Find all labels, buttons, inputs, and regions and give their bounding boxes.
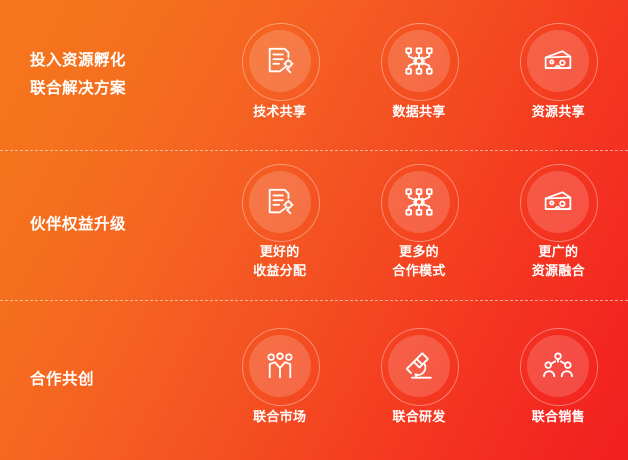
caption-data-sharing: 数据共享 [392, 102, 445, 121]
row-1-cells: 技术共享 [210, 0, 628, 150]
benefit-cell-joint-sales[interactable]: 联合销售 [489, 335, 628, 426]
caption-line: 更广的 [532, 242, 585, 261]
row-1-label-line-1: 投入资源孵化 [30, 47, 210, 75]
badge-cheese-wedge [527, 30, 589, 92]
caption-resource-sharing: 资源共享 [532, 102, 585, 121]
badge-document-share [249, 30, 311, 92]
badge-data-network [388, 171, 450, 233]
caption-line: 收益分配 [253, 261, 306, 280]
microscope-icon [404, 351, 434, 381]
badge-three-people [249, 335, 311, 397]
caption-more-cooperation-modes: 更多的 合作模式 [392, 242, 445, 280]
data-network-gear-icon [404, 46, 434, 76]
benefit-cell-joint-marketing[interactable]: 联合市场 [210, 335, 349, 426]
three-people-icon [265, 352, 295, 380]
benefit-cell-joint-rnd[interactable]: 联合研发 [349, 335, 488, 426]
cheese-wedge-icon [543, 48, 573, 74]
benefit-row-1: 投入资源孵化 联合解决方案 [0, 0, 628, 150]
caption-line: 资源共享 [532, 102, 585, 121]
row-2-cells: 更好的 收益分配 [210, 150, 628, 300]
caption-joint-marketing: 联合市场 [253, 407, 306, 426]
benefit-cell-data-sharing[interactable]: 数据共享 [349, 30, 488, 121]
caption-line: 合作模式 [392, 261, 445, 280]
benefit-row-3: 合作共创 联合市场 [0, 300, 628, 460]
badge-document-share [249, 171, 311, 233]
caption-better-revenue-share: 更好的 收益分配 [253, 242, 306, 280]
caption-line: 联合研发 [392, 407, 445, 426]
row-1-label-line-2: 联合解决方案 [30, 75, 210, 103]
caption-joint-sales: 联合销售 [532, 407, 585, 426]
row-3-label: 合作共创 [0, 366, 210, 394]
partner-benefits-panel: 投入资源孵化 联合解决方案 [0, 0, 628, 460]
caption-line: 联合销售 [532, 407, 585, 426]
caption-tech-sharing: 技术共享 [253, 102, 306, 121]
caption-line: 技术共享 [253, 102, 306, 121]
badge-cheese-wedge [527, 171, 589, 233]
badge-people-group [527, 335, 589, 397]
row-3-label-line-1: 合作共创 [30, 366, 210, 394]
benefit-cell-tech-sharing[interactable]: 技术共享 [210, 30, 349, 121]
people-group-icon [543, 352, 573, 380]
benefit-cell-broader-resource-integration[interactable]: 更广的 资源融合 [489, 171, 628, 280]
row-1-label: 投入资源孵化 联合解决方案 [0, 47, 210, 103]
caption-line: 联合市场 [253, 407, 306, 426]
row-2-label-line-1: 伙伴权益升级 [30, 211, 210, 239]
benefit-cell-better-revenue-share[interactable]: 更好的 收益分配 [210, 171, 349, 280]
caption-joint-rnd: 联合研发 [392, 407, 445, 426]
data-network-gear-icon [404, 187, 434, 217]
caption-line: 资源融合 [532, 261, 585, 280]
caption-line: 更好的 [253, 242, 306, 261]
row-3-cells: 联合市场 [210, 300, 628, 460]
caption-line: 更多的 [392, 242, 445, 261]
row-2-label: 伙伴权益升级 [0, 211, 210, 239]
caption-broader-resource-integration: 更广的 资源融合 [532, 242, 585, 280]
caption-line: 数据共享 [392, 102, 445, 121]
cheese-wedge-icon [543, 189, 573, 215]
benefit-cell-more-cooperation-modes[interactable]: 更多的 合作模式 [349, 171, 488, 280]
document-share-icon [265, 187, 295, 217]
benefit-row-2: 伙伴权益升级 [0, 150, 628, 300]
badge-data-network [388, 30, 450, 92]
benefit-cell-resource-sharing[interactable]: 资源共享 [489, 30, 628, 121]
badge-microscope [388, 335, 450, 397]
document-share-icon [265, 46, 295, 76]
